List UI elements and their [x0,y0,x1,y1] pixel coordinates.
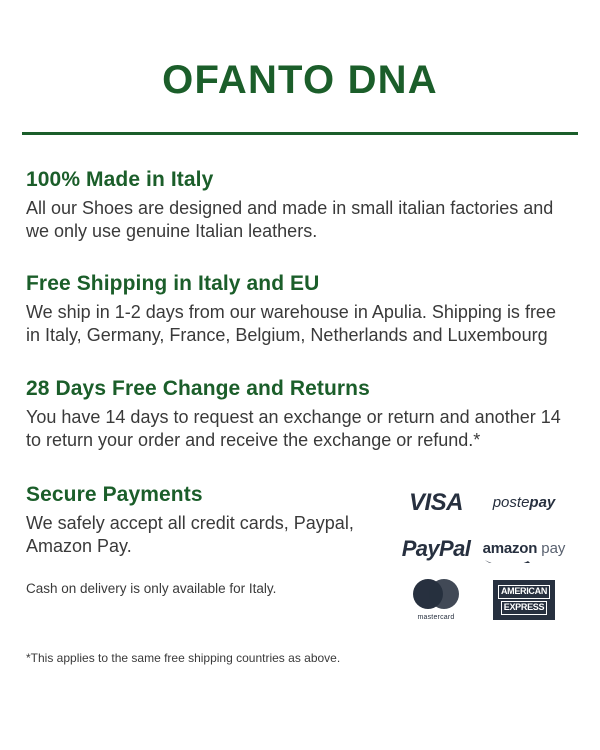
content-area: 100% Made in Italy All our Shoes are des… [0,167,600,622]
page-title: OFANTO DNA [0,0,600,102]
section-heading-secure-payments: Secure Payments [26,482,386,507]
section-free-shipping: Free Shipping in Italy and EU We ship in… [26,271,574,347]
mastercard-logo: mastercard [400,579,472,621]
cash-on-delivery-note: Cash on delivery is only available for I… [26,580,386,598]
payment-logo-row-3: mastercard AMERICAN EXPRESS [400,578,562,622]
section-returns: 28 Days Free Change and Returns You have… [26,376,574,452]
payment-logo-row-1: VISA postepay [400,486,562,520]
postepay-logo-text-light: poste [493,494,530,511]
mastercard-circles-icon [413,579,459,609]
section-body-secure-payments: We safely accept all credit cards, Paypa… [26,512,386,558]
amex-logo: AMERICAN EXPRESS [486,580,562,620]
mastercard-logo-text: mastercard [413,614,459,621]
paypal-logo-text: PayPal [402,536,471,562]
section-made-in-italy: 100% Made in Italy All our Shoes are des… [26,167,574,243]
paypal-logo: PayPal [400,536,472,562]
visa-logo-text: VISA [409,489,463,517]
section-body-made-in-italy: All our Shoes are designed and made in s… [26,197,566,243]
postepay-logo-text-bold: pay [529,494,555,511]
amex-logo-line1: AMERICAN [498,585,550,599]
postepay-logo: postepay [486,494,562,511]
dna-info-page: OFANTO DNA 100% Made in Italy All our Sh… [0,0,600,750]
visa-logo: VISA [400,489,472,517]
section-body-returns: You have 14 days to request an exchange … [26,406,566,452]
title-divider [22,132,578,135]
section-secure-payments: Secure Payments We safely accept all cre… [26,482,574,622]
payment-logos: VISA postepay PayPal amazonpay [400,482,574,622]
amex-logo-line2: EXPRESS [501,601,547,615]
amazon-pay-logo: amazonpay [486,541,562,557]
section-heading-free-shipping: Free Shipping in Italy and EU [26,271,574,296]
section-body-free-shipping: We ship in 1-2 days from our warehouse i… [26,301,566,347]
amazon-pay-logo-pay: pay [541,540,565,557]
amazon-smile-icon [484,555,531,563]
page-footnote: *This applies to the same free shipping … [0,651,366,667]
payment-logo-row-2: PayPal amazonpay [400,532,562,566]
mastercard-circle-right [429,579,459,609]
section-heading-made-in-italy: 100% Made in Italy [26,167,574,192]
secure-payments-text: Secure Payments We safely accept all cre… [26,482,386,598]
section-heading-returns: 28 Days Free Change and Returns [26,376,574,401]
